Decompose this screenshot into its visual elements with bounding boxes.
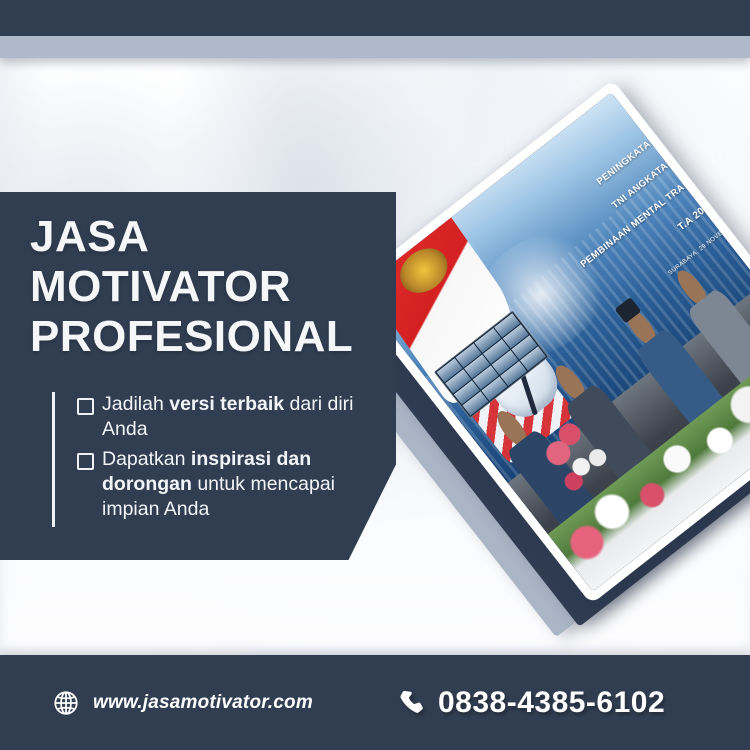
list-item-text: Dapatkan inspirasi dan dorongan untuk me… <box>102 447 382 523</box>
phone-text: 0838-4385-6102 <box>438 686 665 720</box>
checkbox-icon <box>77 453 94 470</box>
phone-contact[interactable]: 0838-4385-6102 <box>397 686 665 720</box>
globe-icon <box>52 689 80 717</box>
top-light-blue-band <box>0 36 750 58</box>
benefit-list: Jadilah versi terbaik dari diri Anda Dap… <box>52 392 382 527</box>
headline-line-2: MOTIVATOR <box>30 262 375 312</box>
website-text: www.jasamotivator.com <box>93 692 313 714</box>
headline-panel: JASA MOTIVATOR PROFESIONAL Jadilah versi… <box>0 192 396 560</box>
headline-line-1: JASA <box>30 212 375 262</box>
checkbox-icon <box>77 398 94 415</box>
top-navy-band <box>0 0 750 36</box>
headline-line-3: PROFESIONAL <box>30 312 375 362</box>
phone-icon <box>397 688 427 718</box>
list-item: Jadilah versi terbaik dari diri Anda <box>77 392 382 443</box>
website-contact[interactable]: www.jasamotivator.com <box>52 689 313 717</box>
page-title: JASA MOTIVATOR PROFESIONAL <box>30 212 375 362</box>
contact-footer: www.jasamotivator.com 0838-4385-6102 <box>0 655 750 750</box>
list-item: Dapatkan inspirasi dan dorongan untuk me… <box>77 447 382 523</box>
list-item-text: Jadilah versi terbaik dari diri Anda <box>102 392 382 443</box>
poster-canvas: PENINGKATAN TNI ANGKATAN PEMBINAAN MENTA… <box>0 0 750 750</box>
